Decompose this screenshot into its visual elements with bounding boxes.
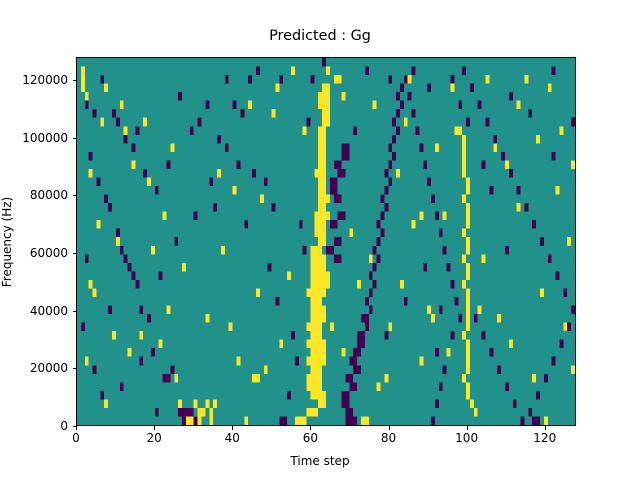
y-tick-label: 40000 [68, 304, 106, 318]
x-tick-mark [545, 426, 546, 430]
x-tick-label: 60 [303, 431, 318, 445]
y-tick-label: 80000 [68, 188, 106, 202]
x-tick-label: 120 [533, 431, 556, 445]
heatmap-axes [76, 57, 576, 426]
heatmap-image [77, 58, 575, 425]
x-tick-label: 100 [455, 431, 478, 445]
x-tick-label: 0 [72, 431, 80, 445]
plot-title: Predicted : Gg [0, 28, 640, 44]
y-tick-label: 60000 [68, 246, 106, 260]
x-tick-mark [154, 426, 155, 430]
x-tick-mark [310, 426, 311, 430]
y-tick-label-text: 80000 [30, 188, 68, 202]
y-axis-label: Frequency (Hz) [0, 196, 14, 287]
figure-canvas: Predicted : Gg Time step Frequency (Hz) … [0, 0, 640, 480]
x-tick-mark [467, 426, 468, 430]
y-tick-label-text: 100000 [22, 131, 68, 145]
y-tick-label-text: 40000 [30, 304, 68, 318]
y-tick-label-text: 60000 [30, 246, 68, 260]
x-tick-mark [232, 426, 233, 430]
y-tick-label-text: 0 [60, 419, 68, 433]
x-axis-label: Time step [0, 454, 640, 468]
x-tick-mark [389, 426, 390, 430]
y-tick-label: 100000 [68, 131, 114, 145]
y-tick-label: 120000 [68, 73, 114, 87]
y-tick-label: 20000 [68, 361, 106, 375]
y-axis-label-text: Frequency (Hz) [0, 196, 14, 287]
x-tick-mark [76, 426, 77, 430]
x-tick-label: 20 [146, 431, 161, 445]
y-tick-label-text: 120000 [22, 73, 68, 87]
x-tick-label: 80 [381, 431, 396, 445]
y-tick-label: 0 [68, 419, 76, 433]
y-tick-label-text: 20000 [30, 361, 68, 375]
x-tick-label: 40 [225, 431, 240, 445]
